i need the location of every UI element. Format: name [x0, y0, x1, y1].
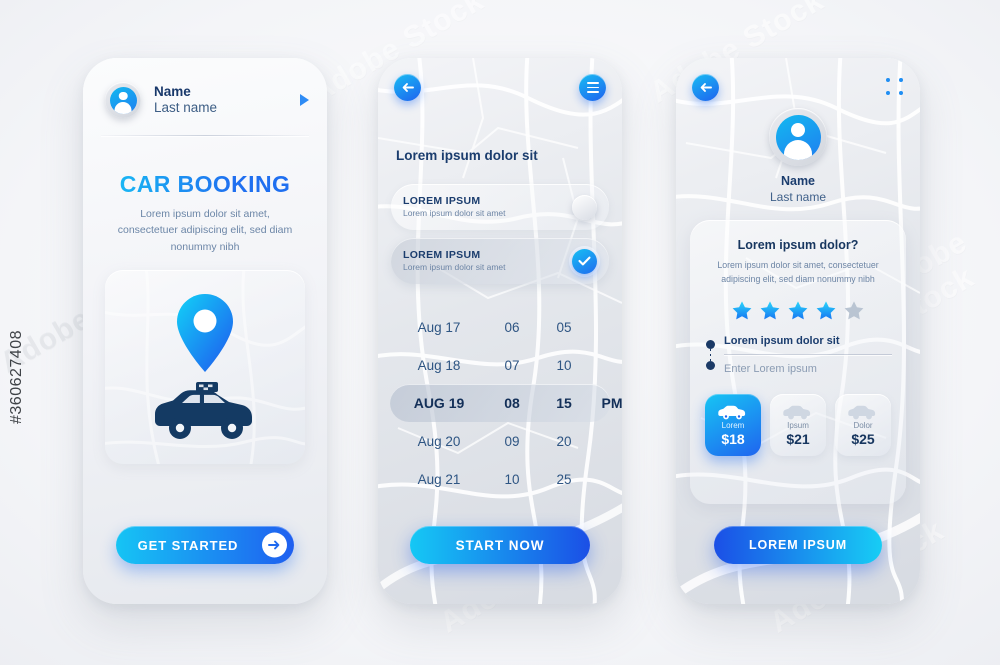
- car-icon: [848, 404, 878, 420]
- car-option-card[interactable]: Ipsum $21: [770, 394, 826, 456]
- picker-minute: 15: [538, 395, 590, 411]
- star-icon-empty[interactable]: [843, 300, 865, 321]
- toggle-knob-icon[interactable]: [572, 195, 597, 220]
- hamburger-menu-icon: [587, 82, 599, 92]
- picker-hour: 10: [486, 472, 538, 487]
- car-option-price: $21: [786, 431, 809, 447]
- page-title: CAR BOOKING: [83, 171, 327, 198]
- phone-screen-profile-rating: Name Last name Lorem ipsum dolor? Lorem …: [676, 58, 920, 604]
- option-row-1[interactable]: LOREM IPSUM Lorem ipsum dolor sit amet: [391, 184, 609, 230]
- picker-row-selected[interactable]: AUG 19 08 15 PM: [386, 384, 614, 422]
- start-now-label: START NOW: [456, 538, 545, 553]
- option-subtitle: Lorem ipsum dolor sit amet: [403, 208, 572, 219]
- picker-row[interactable]: Aug 18 07 10: [386, 346, 614, 384]
- input-field-list: Lorem ipsum dolor sit Enter Lorem ipsum: [704, 335, 892, 382]
- profile-name: Name: [676, 174, 920, 190]
- stock-id-label: #360627408: [8, 330, 26, 424]
- card-paragraph: Lorem ipsum dolor sit amet, consectetuer…: [704, 258, 892, 286]
- car-option-name: Dolor: [853, 421, 872, 430]
- picker-row[interactable]: Aug 17 06 05: [386, 308, 614, 346]
- rating-stars[interactable]: [704, 300, 892, 321]
- profile-last-name: Last name: [676, 190, 920, 205]
- picker-meridiem: PM: [590, 395, 622, 411]
- arrow-right-icon: [262, 533, 287, 558]
- grid-dots-icon[interactable]: [886, 78, 903, 95]
- car-icon: [783, 404, 813, 420]
- picker-minute: 05: [538, 320, 590, 335]
- phone-screen-booking-time: Lorem ipsum dolor sit LOREM IPSUM Lorem …: [378, 58, 622, 604]
- star-icon[interactable]: [731, 300, 753, 321]
- field-value[interactable]: Lorem ipsum dolor sit: [724, 335, 892, 354]
- picker-date: Aug 17: [392, 320, 486, 335]
- picker-hour: 07: [486, 358, 538, 373]
- car-option-name: Lorem: [722, 421, 745, 430]
- car-option-price: $18: [721, 431, 744, 447]
- field-placeholder[interactable]: Enter Lorem ipsum: [724, 363, 892, 382]
- page-subtitle: Lorem ipsum dolor sit amet, consectetuer…: [117, 206, 293, 255]
- user-avatar-icon: [769, 108, 827, 166]
- field-divider: [724, 354, 892, 355]
- check-circle-icon[interactable]: [572, 249, 597, 274]
- get-started-label: GET STARTED: [138, 538, 239, 553]
- lorem-ipsum-label: LOREM IPSUM: [749, 538, 847, 552]
- car-icon: [718, 404, 748, 420]
- option-title: LOREM IPSUM: [403, 194, 572, 208]
- profile-last-name: Last name: [154, 100, 287, 116]
- star-icon[interactable]: [787, 300, 809, 321]
- picker-hour: 09: [486, 434, 538, 449]
- illustration-card: [105, 270, 305, 464]
- datetime-picker[interactable]: Aug 17 06 05 Aug 18 07 10 AUG 19 08 15 P…: [386, 308, 614, 498]
- map-pin-icon: [105, 292, 305, 374]
- car-option-card[interactable]: Dolor $25: [835, 394, 891, 456]
- picker-date: Aug 21: [392, 472, 486, 487]
- back-button[interactable]: [692, 74, 719, 101]
- profile-name: Name: [154, 84, 287, 100]
- car-options-row[interactable]: Lorem $18 Ipsum $21 Dolor: [704, 394, 892, 456]
- picker-row[interactable]: Aug 21 10 25: [386, 460, 614, 498]
- picker-hour: 06: [486, 320, 538, 335]
- star-icon[interactable]: [759, 300, 781, 321]
- header-divider: [101, 135, 309, 136]
- car-option-name: Ipsum: [787, 421, 809, 430]
- user-avatar-icon: [105, 82, 141, 118]
- car-option-card[interactable]: Lorem $18: [705, 394, 761, 456]
- profile-header[interactable]: Name Last name: [105, 82, 309, 118]
- get-started-button[interactable]: GET STARTED: [116, 526, 294, 564]
- taxi-car-icon: [105, 378, 305, 442]
- picker-minute: 20: [538, 434, 590, 449]
- picker-date: Aug 20: [392, 434, 486, 449]
- route-dots-icon: [706, 340, 715, 370]
- picker-hour: 08: [486, 395, 538, 411]
- phone-screen-onboarding: Name Last name CAR BOOKING Lorem ipsum d…: [83, 58, 327, 604]
- picker-date: Aug 18: [392, 358, 486, 373]
- start-now-button[interactable]: START NOW: [410, 526, 590, 564]
- picker-date: AUG 19: [392, 395, 486, 411]
- option-subtitle: Lorem ipsum dolor sit amet: [403, 262, 572, 273]
- picker-row[interactable]: Aug 20 09 20: [386, 422, 614, 460]
- car-option-price: $25: [851, 431, 874, 447]
- menu-button[interactable]: [579, 74, 606, 101]
- option-row-2[interactable]: LOREM IPSUM Lorem ipsum dolor sit amet: [391, 238, 609, 284]
- lorem-ipsum-button[interactable]: LOREM IPSUM: [714, 526, 882, 564]
- triangle-right-icon[interactable]: [300, 94, 309, 106]
- star-icon[interactable]: [815, 300, 837, 321]
- arrow-left-icon: [699, 82, 712, 93]
- back-button[interactable]: [394, 74, 421, 101]
- section-title: Lorem ipsum dolor sit: [396, 148, 538, 163]
- picker-minute: 25: [538, 472, 590, 487]
- option-title: LOREM IPSUM: [403, 248, 572, 262]
- arrow-left-icon: [401, 82, 414, 93]
- card-question: Lorem ipsum dolor?: [704, 238, 892, 252]
- rating-card: Lorem ipsum dolor? Lorem ipsum dolor sit…: [690, 220, 906, 504]
- picker-minute: 10: [538, 358, 590, 373]
